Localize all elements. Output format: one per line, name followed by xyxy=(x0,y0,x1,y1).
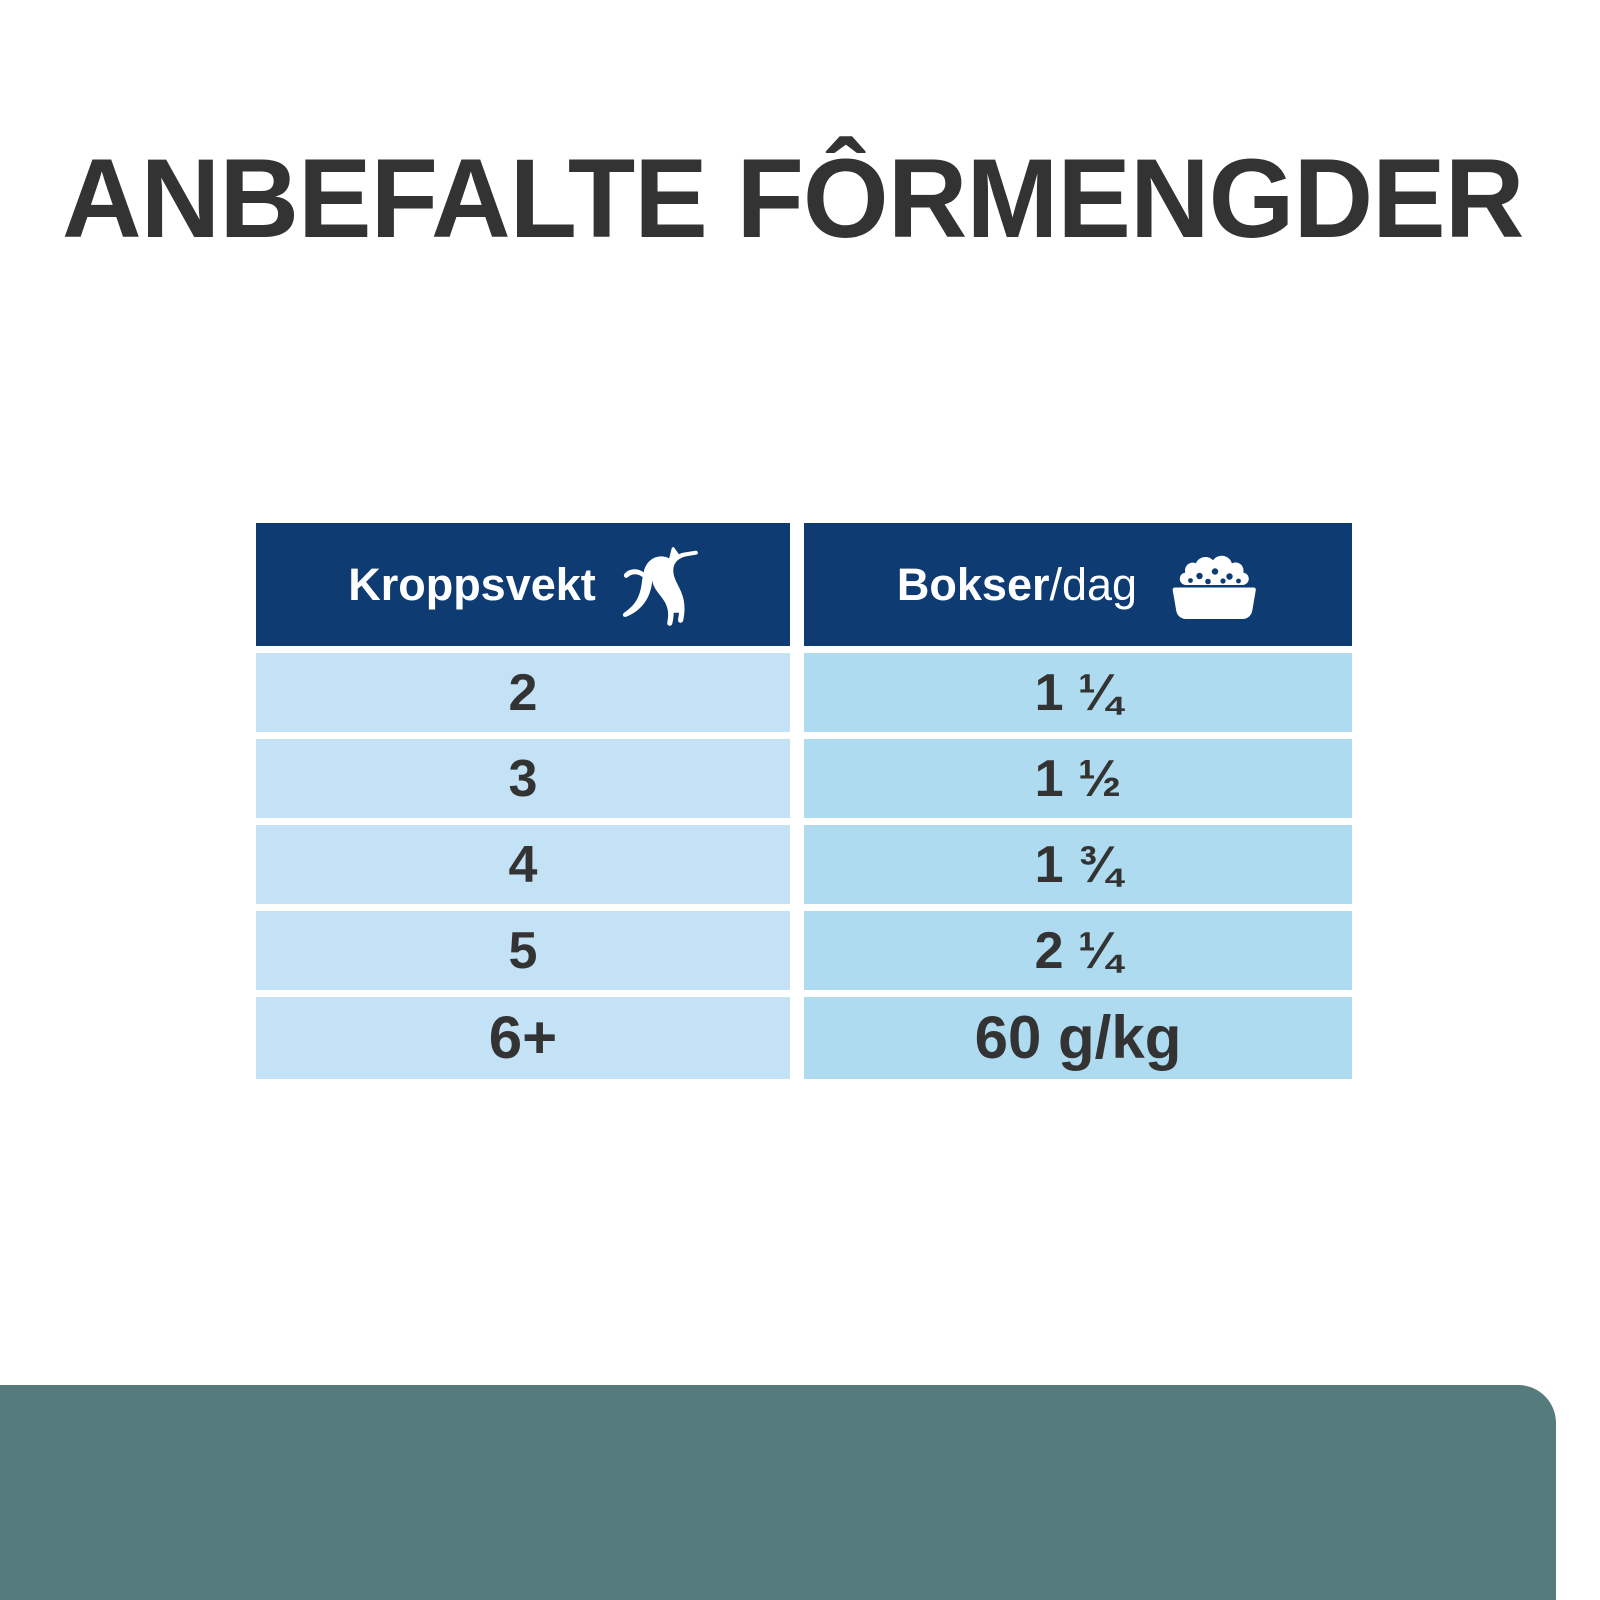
value-cans-per-day: 1 ½ xyxy=(1035,753,1122,805)
value-bodyweight: 5 xyxy=(509,925,538,977)
cell-cans-per-day: 2 ¼ xyxy=(804,911,1352,990)
bottom-teal-band xyxy=(0,1385,1556,1600)
cell-cans-per-day: 1 ¾ xyxy=(804,825,1352,904)
value-cans-per-day: 2 ¼ xyxy=(1035,925,1122,977)
cell-cans-per-day: 1 ½ xyxy=(804,739,1352,818)
value-cans-per-day: 1 ¼ xyxy=(1035,667,1122,719)
value-bodyweight: 6+ xyxy=(489,1008,557,1068)
table-row: 6+ 60 g/kg xyxy=(256,997,1352,1079)
cell-bodyweight: 3 xyxy=(256,739,790,818)
table-header-row: Kroppsvekt Bokser/dag xyxy=(256,523,1352,646)
table-row: 3 1 ½ xyxy=(256,739,1352,818)
cell-cans-per-day: 60 g/kg xyxy=(804,997,1352,1079)
cell-bodyweight: 4 xyxy=(256,825,790,904)
cat-icon xyxy=(622,542,698,628)
header-label-cans-per-day: Bokser/dag xyxy=(897,562,1137,607)
header-label-cans: Bokser xyxy=(897,559,1050,610)
cell-cans-per-day: 1 ¼ xyxy=(804,653,1352,732)
page-title: ANBEFALTE FÔRMENGDER xyxy=(62,143,1520,255)
cell-bodyweight: 6+ xyxy=(256,997,790,1079)
cell-bodyweight: 5 xyxy=(256,911,790,990)
food-bowl-icon xyxy=(1163,549,1259,621)
cell-bodyweight: 2 xyxy=(256,653,790,732)
table-row: 4 1 ¾ xyxy=(256,825,1352,904)
value-bodyweight: 3 xyxy=(509,753,538,805)
value-bodyweight: 4 xyxy=(509,839,538,891)
table-row: 2 1 ¼ xyxy=(256,653,1352,732)
header-label-bodyweight: Kroppsvekt xyxy=(348,562,596,607)
header-cell-cans-per-day: Bokser/dag xyxy=(804,523,1352,646)
table-row: 5 2 ¼ xyxy=(256,911,1352,990)
feeding-amounts-table: Kroppsvekt Bokser/dag xyxy=(256,523,1352,1079)
value-bodyweight: 2 xyxy=(509,667,538,719)
header-label-per-day: /dag xyxy=(1049,559,1137,610)
header-cell-bodyweight: Kroppsvekt xyxy=(256,523,790,646)
value-cans-per-day: 60 g/kg xyxy=(975,1008,1182,1068)
value-cans-per-day: 1 ¾ xyxy=(1035,839,1122,891)
